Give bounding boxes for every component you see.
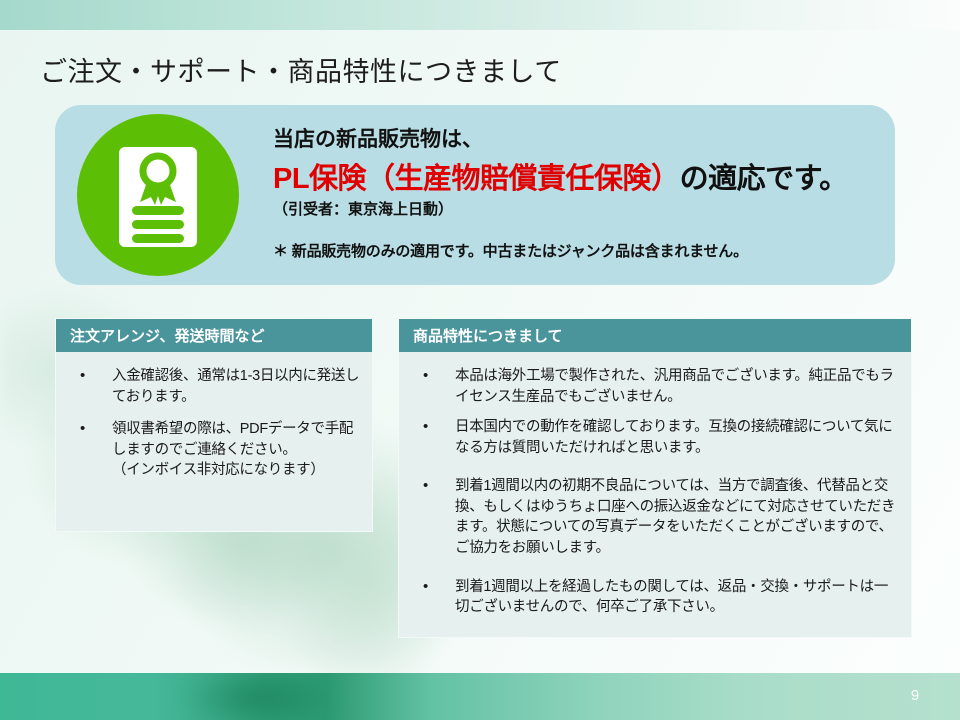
callout-line-1: 当店の新品販売物は、 [273,123,885,153]
page-title: ご注文・サポート・商品特性につきまして [40,50,562,89]
list-item: 日本国内での動作を確認しております。互換の接続確認について気になる方は質問いただ… [409,417,901,458]
certificate-seal-icon [77,114,239,276]
callout-line-2-tail: の適応です。 [680,163,848,195]
panel-product-characteristics-body: 本品は海外工場で製作された、汎用商品でございます。純正品でもライセンス生産品でも… [399,352,911,638]
list-item: 到着1週間以上を経過したもの関しては、返品・交換・サポートは一切ございませんので… [409,577,901,618]
callout-line-2: PL保険（生産物賠償責任保険）の適応です。 [273,155,885,197]
bottom-accent-band [0,673,960,720]
list-item: 到着1週間以内の初期不良品については、当方で調査後、代替品と交換、もしくはゆうち… [409,476,901,558]
callout-text-block: 当店の新品販売物は、 PL保険（生産物賠償責任保険）の適応です。 （引受者：東京… [273,123,885,261]
order-arrange-bullet-list: 入金確認後、通常は1-3日以内に発送しております。 領収書希望の際は、PDFデー… [66,366,362,481]
panel-product-characteristics-header: 商品特性につきまして [399,319,911,352]
callout-underwriter: （引受者：東京海上日動） [273,198,885,219]
list-item: 領収書希望の際は、PDFデータで手配しますのでご連絡ください。 （インボイス非対… [66,419,362,481]
page-number: 9 [900,687,930,704]
panel-product-characteristics: 商品特性につきまして 本品は海外工場で製作された、汎用商品でございます。純正品で… [398,318,912,638]
list-item: 本品は海外工場で製作された、汎用商品でございます。純正品でもライセンス生産品でも… [409,366,901,407]
product-characteristics-bullet-list: 本品は海外工場で製作された、汎用商品でございます。純正品でもライセンス生産品でも… [409,366,901,618]
top-accent-band [0,0,960,30]
insurance-callout-box: 当店の新品販売物は、 PL保険（生産物賠償責任保険）の適応です。 （引受者：東京… [55,105,895,285]
panel-order-arrange-body: 入金確認後、通常は1-3日以内に発送しております。 領収書希望の際は、PDFデー… [56,352,372,503]
slide-canvas: ご注文・サポート・商品特性につきまして 当店の新品販売物は、 PL保険（生産物賠… [0,0,960,720]
callout-insurance-name: PL保険（生産物賠償責任保険） [273,163,680,195]
callout-footnote: ＊ 新品販売物のみの適用です。中古またはジャンク品は含まれません。 [273,240,885,261]
panel-order-arrange: 注文アレンジ、発送時間など 入金確認後、通常は1-3日以内に発送しております。 … [55,318,373,532]
panel-order-arrange-header: 注文アレンジ、発送時間など [56,319,372,352]
list-item: 入金確認後、通常は1-3日以内に発送しております。 [66,366,362,407]
